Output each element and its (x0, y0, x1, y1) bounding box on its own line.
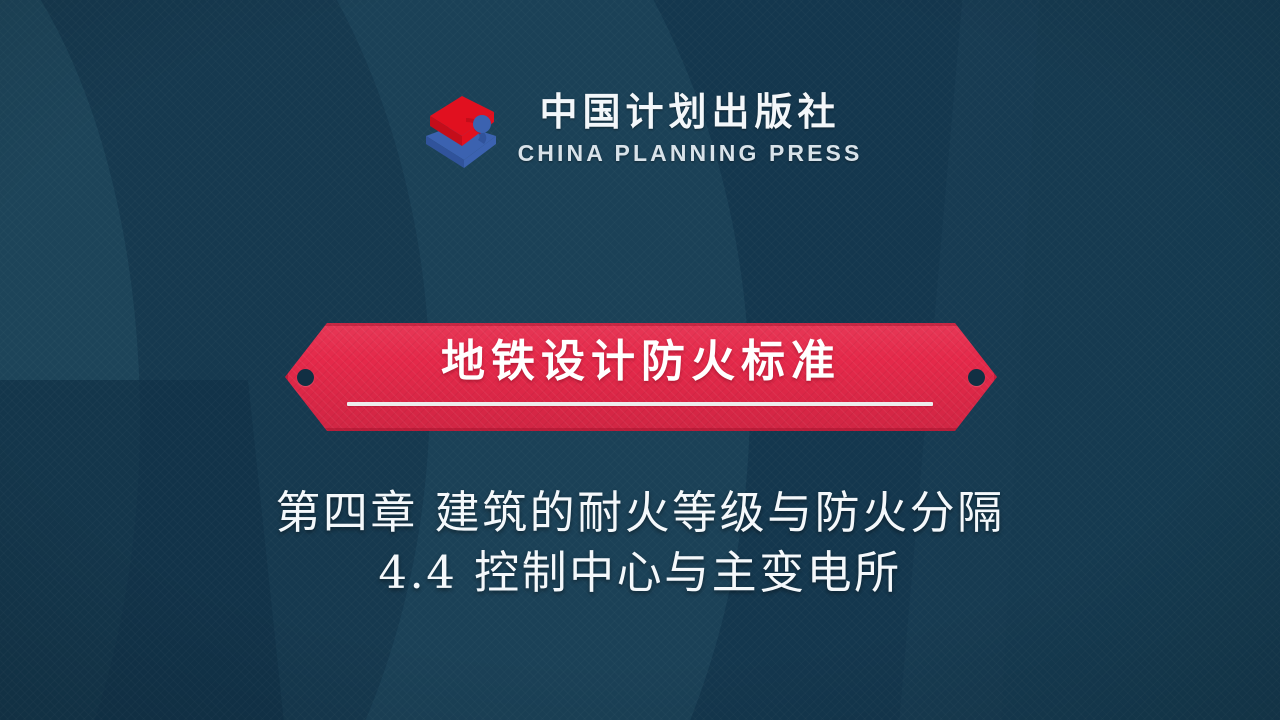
slide-canvas: 中国计划出版社 CHINA PLANNING PRESS 地铁设计防火标准 第四… (0, 0, 1280, 720)
section-line: 4.4 控制中心与主变电所 (0, 543, 1280, 603)
publisher-name-en: CHINA PLANNING PRESS (518, 140, 863, 167)
publisher-logo: 中国计划出版社 CHINA PLANNING PRESS (0, 88, 1280, 170)
title-plaque: 地铁设计防火标准 (285, 323, 997, 431)
plaque-underline (347, 402, 933, 406)
chapter-subtitle: 第四章 建筑的耐火等级与防火分隔 4.4 控制中心与主变电所 (0, 483, 1280, 603)
publisher-name-cn: 中国计划出版社 (539, 91, 840, 132)
standard-title: 地铁设计防火标准 (285, 340, 997, 384)
publisher-logo-text: 中国计划出版社 CHINA PLANNING PRESS (518, 91, 863, 166)
chapter-line: 第四章 建筑的耐火等级与防火分隔 (0, 483, 1280, 543)
stacked-books-icon (418, 88, 504, 170)
